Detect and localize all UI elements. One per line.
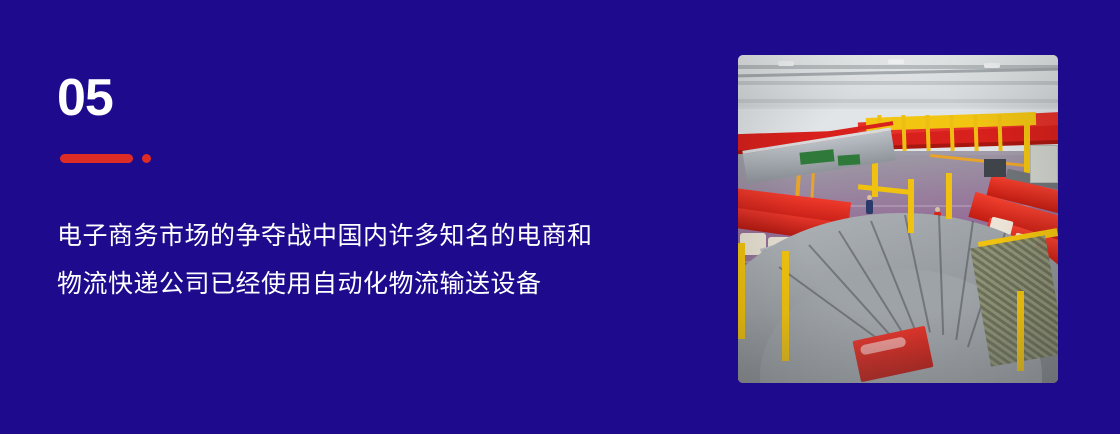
accent-bar bbox=[60, 154, 133, 163]
ceiling-light bbox=[984, 63, 1000, 68]
equipment-box bbox=[984, 159, 1006, 177]
section-number: 05 bbox=[57, 72, 113, 124]
ceiling-truss bbox=[738, 68, 1058, 78]
ceiling-light bbox=[778, 61, 794, 66]
yellow-guard-post bbox=[946, 173, 952, 219]
ceiling-light bbox=[888, 59, 904, 64]
slide-root: 05 电子商务市场的争夺战中国内许多知名的电商和 物流快递公司已经使用自动化物流… bbox=[0, 0, 1120, 434]
photo-bottom-blur bbox=[738, 313, 1058, 383]
ceiling-beam bbox=[738, 99, 1058, 103]
yellow-guard-post bbox=[908, 179, 914, 233]
automated-logistics-conveyor-photo bbox=[738, 55, 1058, 383]
ceiling-beam bbox=[738, 81, 1058, 85]
storage-bin bbox=[1030, 145, 1058, 183]
text-column: 05 电子商务市场的争夺战中国内许多知名的电商和 物流快递公司已经使用自动化物流… bbox=[0, 0, 700, 434]
accent-dot bbox=[142, 154, 151, 163]
body-text: 电子商务市场的争夺战中国内许多知名的电商和 物流快递公司已经使用自动化物流输送设… bbox=[57, 212, 687, 308]
body-line-1: 电子商务市场的争夺战中国内许多知名的电商和 bbox=[57, 212, 687, 260]
accent-divider bbox=[60, 154, 151, 163]
body-line-2: 物流快递公司已经使用自动化物流输送设备 bbox=[57, 260, 687, 308]
green-machine-panel bbox=[838, 154, 861, 166]
